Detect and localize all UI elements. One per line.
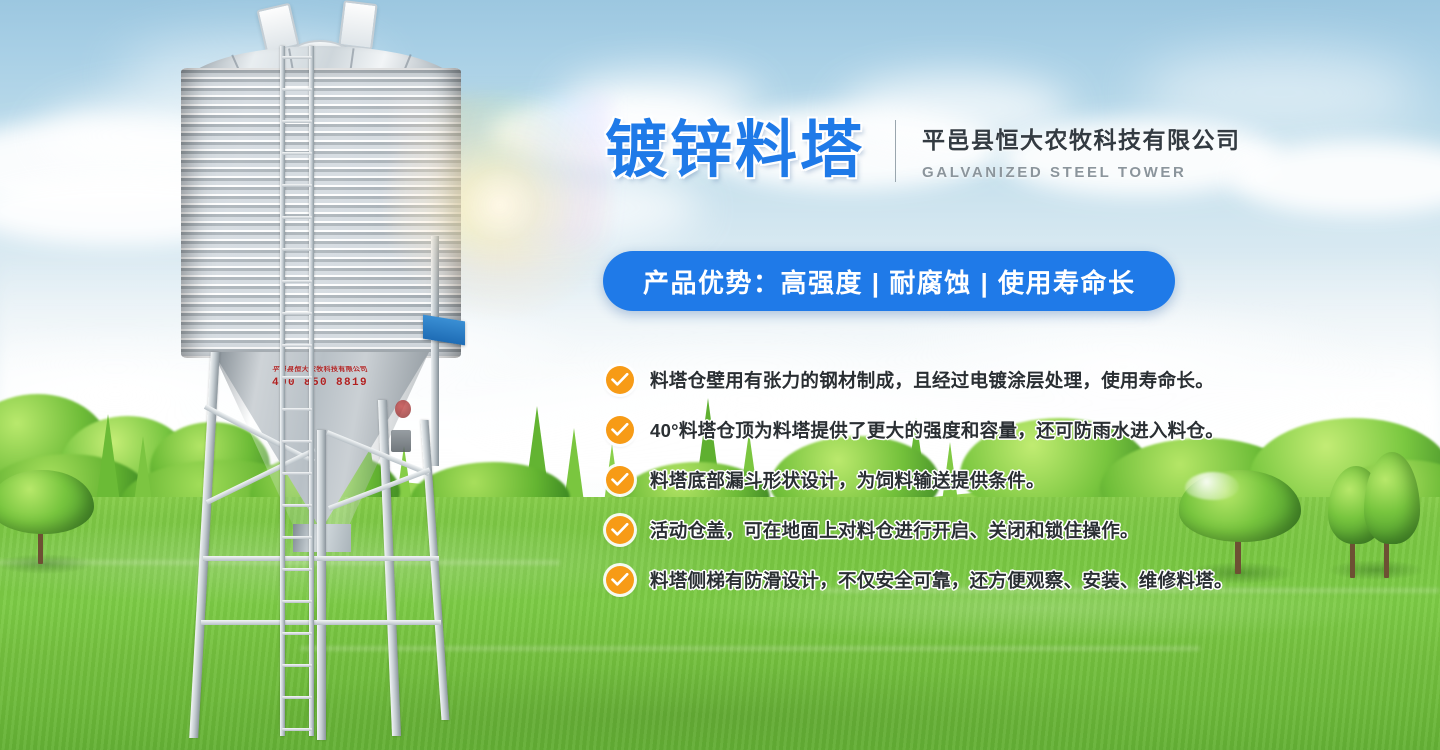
banner-content: 镀锌料塔 平邑县恒大农牧科技有限公司 GALVANIZED STEEL TOWE…: [600, 0, 1440, 750]
ladder-rung: [282, 280, 312, 283]
silo-decal-phone: 400 850 8819: [245, 377, 395, 391]
silo-hatch-lid: [338, 0, 377, 50]
ladder-rung: [282, 600, 312, 603]
feature-text: 料塔底部漏斗形状设计，为饲料输送提供条件。: [650, 467, 1045, 493]
ladder-rung: [282, 248, 312, 251]
silo-decal-company: 平邑县恒大农牧科技有限公司: [243, 366, 398, 374]
headline-divider: [895, 120, 896, 182]
ladder-rung: [282, 504, 312, 507]
silo-support-leg: [317, 430, 326, 740]
ladder-rung: [282, 120, 312, 123]
check-circle-icon: [606, 566, 634, 594]
ladder-rung: [282, 472, 312, 475]
ladder-rung: [282, 312, 312, 315]
ladder-rung: [282, 184, 312, 187]
check-circle-icon: [606, 366, 634, 394]
feature-item: 40°料塔仓顶为料塔提供了更大的强度和容量，还可防雨水进入料仓。: [606, 405, 1436, 455]
ladder-rung: [282, 728, 312, 731]
company-name: 平邑县恒大农牧科技有限公司: [922, 121, 1241, 155]
ladder-rung: [282, 56, 312, 59]
silo-horizontal-brace: [203, 556, 439, 561]
hero-banner: 平邑县恒大农牧科技有限公司 400 850 8819: [0, 0, 1440, 750]
ladder-rung: [282, 152, 312, 155]
silo-corrugated-body: [181, 68, 461, 358]
ladder-rung: [282, 568, 312, 571]
feature-list: 料塔仓壁用有张力的钢材制成，且经过电镀涂层处理，使用寿命长。 40°料塔仓顶为料…: [606, 355, 1436, 605]
ladder-rung: [282, 536, 312, 539]
headline-block: 镀锌料塔 平邑县恒大农牧科技有限公司 GALVANIZED STEEL TOWE…: [605, 120, 1241, 182]
ladder-rung: [282, 696, 312, 699]
tree-shadow: [0, 554, 92, 574]
feature-item: 料塔底部漏斗形状设计，为饲料输送提供条件。: [606, 455, 1436, 505]
advantage-pill: 产品优势：高强度 | 耐腐蚀 | 使用寿命长: [603, 251, 1175, 311]
ladder-rung: [282, 88, 312, 91]
check-circle-icon: [606, 416, 634, 444]
tree-canopy: [0, 470, 94, 534]
ladder-rung: [282, 440, 312, 443]
ladder-rung: [282, 376, 312, 379]
silo-outlet-valve: [395, 400, 411, 418]
silo-access-door: [391, 430, 411, 452]
silo-decal: 平邑县恒大农牧科技有限公司 400 850 8819: [245, 366, 395, 418]
silo-access-ladder: [280, 46, 314, 736]
ladder-rung: [282, 408, 312, 411]
check-circle-icon: [606, 516, 634, 544]
headline-right: 平邑县恒大农牧科技有限公司 GALVANIZED STEEL TOWER: [922, 121, 1241, 181]
page-title: 镀锌料塔: [605, 120, 865, 182]
feature-item: 活动仓盖，可在地面上对料仓进行开启、关闭和锁住操作。: [606, 505, 1436, 555]
silo-horizontal-brace: [201, 620, 441, 625]
feature-item: 料塔仓壁用有张力的钢材制成，且经过电镀涂层处理，使用寿命长。: [606, 355, 1436, 405]
feature-text: 活动仓盖，可在地面上对料仓进行开启、关闭和锁住操作。: [650, 517, 1139, 543]
galvanized-feed-silo-image: 平邑县恒大农牧科技有限公司 400 850 8819: [95, 0, 525, 750]
feature-text: 料塔仓壁用有张力的钢材制成，且经过电镀涂层处理，使用寿命长。: [650, 367, 1214, 393]
ladder-rung: [282, 216, 312, 219]
english-subtitle: GALVANIZED STEEL TOWER: [922, 164, 1241, 181]
check-circle-icon: [606, 466, 634, 494]
silo-side-pipe: [431, 236, 439, 466]
feature-text: 料塔侧梯有防滑设计，不仅安全可靠，还方便观察、安装、维修料塔。: [650, 567, 1233, 593]
feature-item: 料塔侧梯有防滑设计，不仅安全可靠，还方便观察、安装、维修料塔。: [606, 555, 1436, 605]
ladder-rung: [282, 344, 312, 347]
advantage-pill-text: 产品优势：高强度 | 耐腐蚀 | 使用寿命长: [643, 263, 1135, 300]
ladder-rung: [282, 664, 312, 667]
ladder-rung: [282, 632, 312, 635]
feature-text: 40°料塔仓顶为料塔提供了更大的强度和容量，还可防雨水进入料仓。: [650, 417, 1224, 443]
specimen-tree-left: [0, 470, 100, 570]
